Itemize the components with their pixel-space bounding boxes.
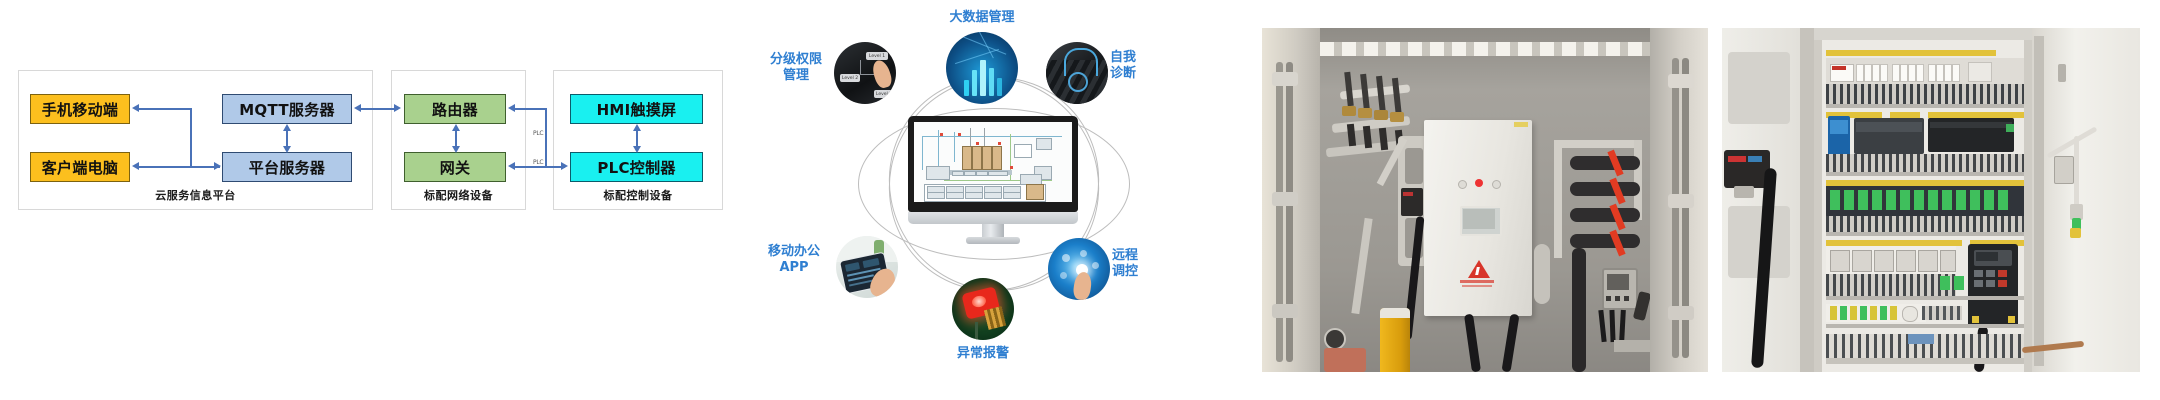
label-mobile-app-line-2: APP — [756, 260, 832, 276]
label-big-data: 大数据管理 — [922, 10, 1042, 26]
level-chip-2: Level 2 — [840, 74, 860, 82]
connector-branch-to-mobile — [139, 108, 191, 110]
arrowhead-router-left-in — [394, 104, 401, 112]
arrowhead-mqtt-up — [283, 124, 291, 131]
bubble-remote-control[interactable] — [1048, 238, 1110, 300]
wire-tag-lower: PLC — [533, 159, 543, 166]
arrowhead-clientpc-left — [132, 162, 139, 170]
node-client-pc-label: 客户端电脑 — [42, 157, 119, 178]
node-gateway[interactable]: 网关 — [404, 152, 506, 182]
label-self-diagnosis-line-1: 自我 — [1110, 50, 1170, 66]
monitor-neck — [982, 224, 1004, 238]
label-big-data-line-1: 大数据管理 — [922, 10, 1042, 26]
arrowhead-hmi-up — [633, 124, 641, 131]
node-mobile-terminal[interactable]: 手机移动端 — [30, 94, 130, 124]
arrowhead-plc-left-in — [561, 162, 568, 170]
photo-control-cabinet-with-valve-manifold — [1262, 28, 1708, 372]
arrowhead-gateway-down — [452, 146, 460, 153]
arrowhead-plc-down — [633, 146, 641, 153]
node-platform-server-label: 平台服务器 — [249, 157, 326, 178]
connector-branch-vertical — [190, 108, 192, 166]
wire-tag-upper: PLC — [533, 130, 543, 137]
node-plc-controller-label: PLC控制器 — [597, 157, 675, 178]
bubble-tiered-permission[interactable]: Level 1 Level 2 Level 3 — [834, 42, 896, 104]
label-self-diagnosis-line-2: 诊断 — [1110, 66, 1170, 82]
monitor-base — [966, 237, 1020, 244]
node-plc-controller[interactable]: PLC控制器 — [570, 152, 703, 182]
bubble-self-diagnosis[interactable] — [1046, 42, 1108, 104]
node-platform-server[interactable]: 平台服务器 — [222, 152, 352, 182]
group-cloud-platform: 云服务信息平台 — [18, 70, 373, 210]
node-mqtt-server-label: MQTT服务器 — [239, 99, 335, 120]
connector-plc-router-top — [514, 108, 546, 110]
group-control-devices-label: 标配控制设备 — [554, 187, 722, 203]
node-router[interactable]: 路由器 — [404, 94, 506, 124]
connector-platform-clientpc — [138, 166, 220, 168]
arrowhead-mqtt-right-left — [354, 104, 361, 112]
node-mqtt-server[interactable]: MQTT服务器 — [222, 94, 352, 124]
photo-plc-electrical-control-cabinet — [1722, 28, 2140, 372]
monitor-screen — [914, 122, 1072, 202]
group-network-devices: 标配网络设备 — [391, 70, 526, 210]
label-remote-control-line-1: 远程 — [1112, 248, 1172, 264]
label-self-diagnosis: 自我 诊断 — [1110, 50, 1170, 83]
architecture-block-diagram: 云服务信息平台 标配网络设备 标配控制设备 手机移动端 客户端电脑 MQTT服务… — [0, 0, 740, 400]
label-mobile-app-line-1: 移动办公 — [756, 244, 832, 260]
bubble-big-data[interactable] — [946, 32, 1018, 104]
label-mobile-app: 移动办公 APP — [756, 244, 832, 277]
node-gateway-label: 网关 — [440, 157, 471, 178]
monitor-chin — [908, 212, 1078, 224]
scada-process-graphic — [914, 122, 1072, 202]
bubble-mobile-app[interactable] — [836, 236, 898, 298]
arrowhead-platform-down — [283, 146, 291, 153]
capability-infographic: 大数据管理 自我 诊断 Level 1 Level 2 Level 3 分级权限… — [740, 0, 1240, 400]
label-tiered-permission-line-2: 管理 — [760, 68, 832, 84]
node-hmi-touchscreen[interactable]: HMI触摸屏 — [570, 94, 703, 124]
arrowhead-mobile-left — [132, 104, 139, 112]
arrowhead-gateway-right-in — [508, 162, 515, 170]
node-hmi-touchscreen-label: HMI触摸屏 — [597, 99, 677, 120]
group-network-devices-label: 标配网络设备 — [392, 187, 525, 203]
label-tiered-permission-line-1: 分级权限 — [760, 52, 832, 68]
scada-monitor — [908, 116, 1078, 244]
screenshot-root: 云服务信息平台 标配网络设备 标配控制设备 手机移动端 客户端电脑 MQTT服务… — [0, 0, 2160, 400]
arrowhead-router-right-in — [508, 104, 515, 112]
group-control-devices: 标配控制设备 — [553, 70, 723, 210]
label-remote-control-line-2: 调控 — [1112, 264, 1172, 280]
node-client-pc[interactable]: 客户端电脑 — [30, 152, 130, 182]
node-mobile-terminal-label: 手机移动端 — [42, 99, 119, 120]
arrowhead-platform-right — [214, 162, 221, 170]
label-tiered-permission: 分级权限 管理 — [760, 52, 832, 85]
connector-plc-router-vertical — [545, 108, 547, 166]
connector-mqtt-router — [358, 108, 398, 110]
group-cloud-platform-label: 云服务信息平台 — [19, 187, 372, 203]
label-abnormal-alarm-line-1: 异常报警 — [923, 346, 1043, 362]
connector-plc-router-bottom — [514, 166, 546, 168]
level-chip-1: Level 1 — [866, 52, 888, 60]
node-router-label: 路由器 — [432, 99, 478, 120]
level-chip-3: Level 3 — [874, 90, 894, 98]
bubble-abnormal-alarm[interactable] — [952, 278, 1014, 340]
label-abnormal-alarm: 异常报警 — [923, 346, 1043, 362]
arrowhead-router-up — [452, 124, 460, 131]
label-remote-control: 远程 调控 — [1112, 248, 1172, 281]
